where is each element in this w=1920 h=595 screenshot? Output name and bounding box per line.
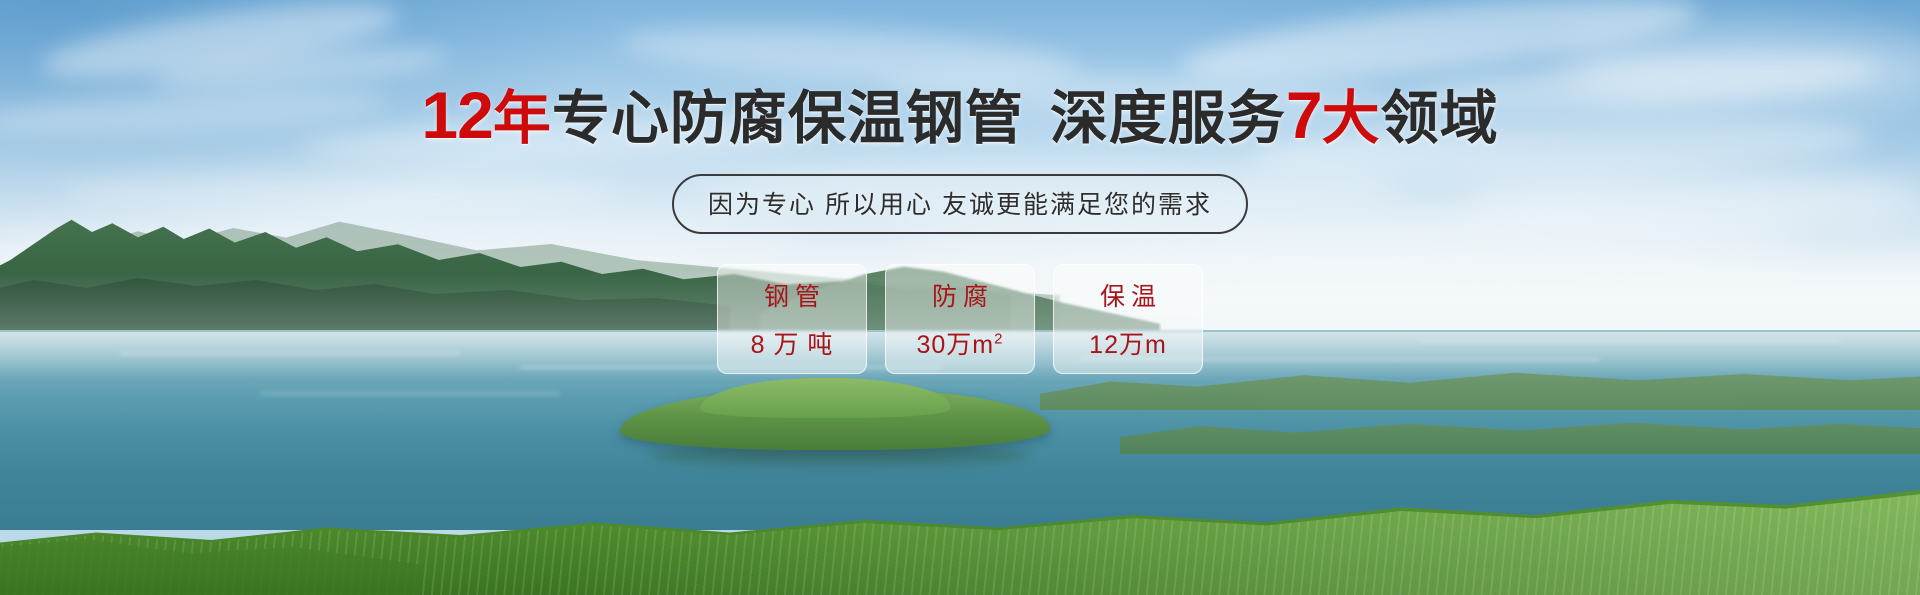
- headline-main-text: 专心防腐保温钢管: [552, 86, 1024, 151]
- stat-card-value-text: 30万m: [917, 331, 995, 359]
- subtitle-pill: 因为专心 所以用心 友诚更能满足您的需求: [672, 174, 1248, 234]
- stat-card-value: 30万m2: [917, 325, 1004, 361]
- headline-years-number: 12: [421, 78, 492, 152]
- stat-card-value: 12万m: [1089, 325, 1167, 361]
- stat-card-steel-pipe: 钢管 8 万 吨: [717, 264, 867, 374]
- stat-card-label: 钢管: [758, 277, 826, 313]
- stat-card-anticorrosion: 防腐 30万m2: [885, 264, 1035, 374]
- stat-card-value: 8 万 吨: [751, 325, 834, 361]
- headline-fields-text: 领域: [1381, 86, 1499, 151]
- stat-cards: 钢管 8 万 吨 防腐 30万m2 保温 12万m: [717, 264, 1203, 374]
- stat-card-label: 防腐: [926, 277, 994, 313]
- hero-banner: 12年专心防腐保温钢管深度服务7大领域 因为专心 所以用心 友诚更能满足您的需求…: [0, 0, 1920, 595]
- headline-fields-number: 7: [1286, 78, 1322, 152]
- stat-card-insulation: 保温 12万m: [1053, 264, 1203, 374]
- headline-years-unit: 年: [493, 86, 552, 151]
- stat-card-value-text: 12万m: [1089, 331, 1167, 359]
- headline-service-text: 深度服务: [1050, 86, 1286, 151]
- headline-fields-unit: 大: [1322, 86, 1381, 151]
- headline: 12年专心防腐保温钢管深度服务7大领域: [421, 82, 1498, 148]
- stat-card-value-sup: 2: [994, 331, 1003, 348]
- stat-card-label: 保温: [1094, 277, 1162, 313]
- stat-card-value-text: 8 万 吨: [751, 331, 834, 359]
- banner-content: 12年专心防腐保温钢管深度服务7大领域 因为专心 所以用心 友诚更能满足您的需求…: [0, 0, 1920, 595]
